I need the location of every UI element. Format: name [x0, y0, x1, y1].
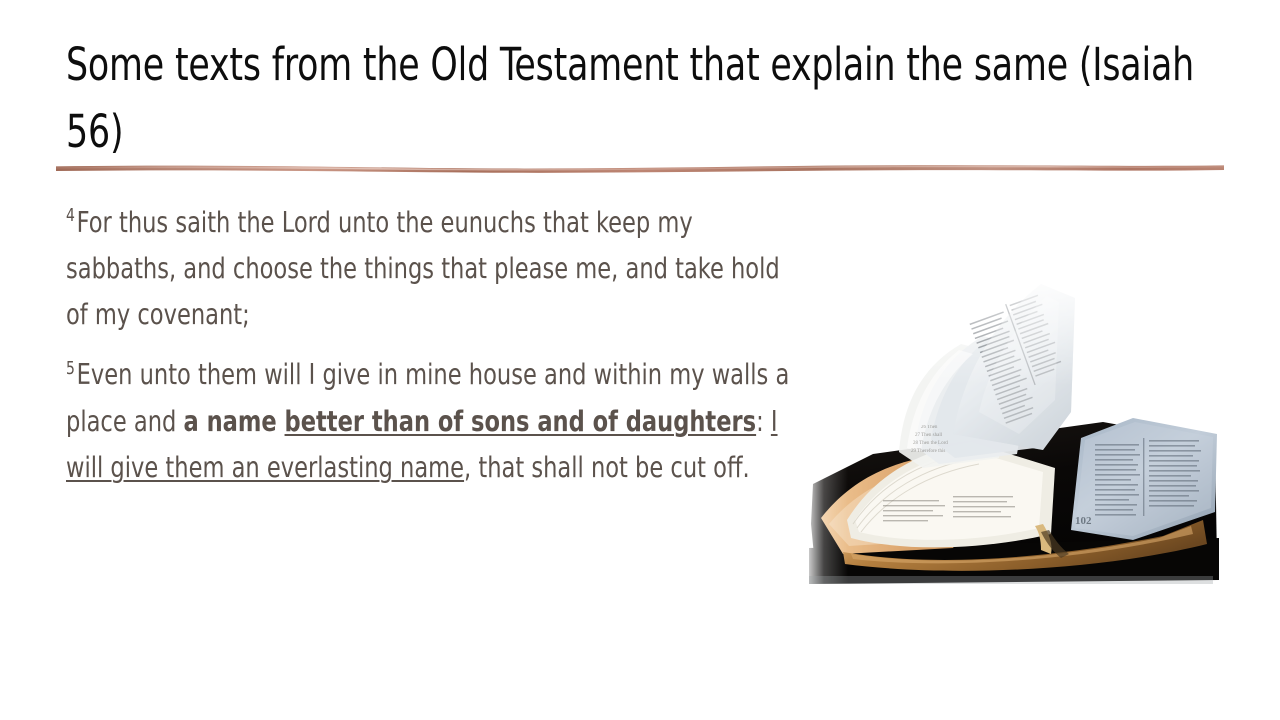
verse-5-run-1-bold: a name — [184, 405, 285, 438]
page-title: Some texts from the Old Testament that e… — [66, 32, 1218, 165]
divider — [56, 159, 1224, 175]
svg-text:102: 102 — [1075, 515, 1092, 527]
verse-5-run-5: , that shall not be cut off. — [464, 451, 750, 484]
verse-5-run-2-bold-underline: better than of sons and of daughters — [285, 405, 757, 438]
verse-number-4: 4 — [66, 206, 75, 226]
open-bible-photo: 102 — [803, 262, 1221, 586]
title-block: Some texts from the Old Testament that e… — [66, 32, 1226, 165]
verse-number-5: 5 — [66, 359, 75, 379]
verse-5-run-3: : — [756, 405, 771, 438]
verse-paragraph-4: 4For thus saith the Lord unto the eunuch… — [66, 200, 808, 338]
body-text-block: 4For thus saith the Lord unto the eunuch… — [66, 200, 808, 491]
brush-stroke-divider-icon — [56, 159, 1224, 175]
open-bible-illustration-icon: 102 — [803, 262, 1221, 586]
verse-paragraph-5: 5Even unto them will I give in mine hous… — [66, 352, 808, 490]
slide-canvas: Some texts from the Old Testament that e… — [0, 0, 1280, 720]
verse-4-run-0: For thus saith the Lord unto the eunuchs… — [66, 206, 780, 331]
